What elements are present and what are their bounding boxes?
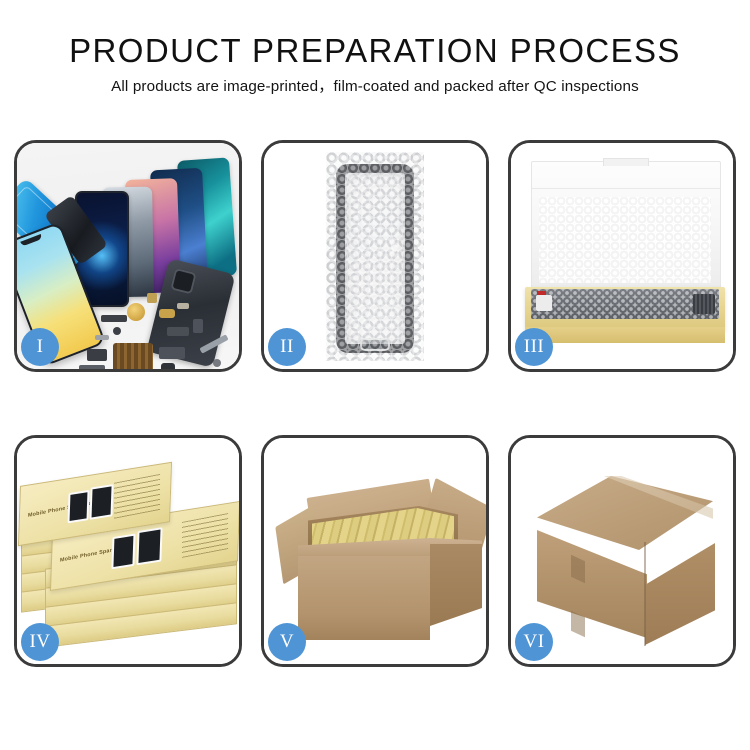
spare-part-icon	[79, 365, 105, 369]
spare-part-icon	[161, 363, 175, 369]
process-step-panel-2[interactable]: II	[261, 140, 489, 372]
spare-part-icon	[147, 293, 157, 303]
carton-top-face-icon	[537, 476, 713, 550]
process-step-panel-3[interactable]: III	[508, 140, 736, 372]
spare-part-icon	[159, 309, 175, 318]
product-preparation-process-page: PRODUCT PREPARATION PROCESS All products…	[0, 0, 750, 750]
foam-padding-icon	[539, 197, 711, 283]
page-subtitle: All products are image-printed，film-coat…	[0, 75, 750, 99]
phone-screen-outline-icon	[336, 164, 414, 353]
red-label-mark-icon	[537, 291, 546, 295]
spare-part-icon	[193, 319, 203, 333]
process-step-panel-1[interactable]: I	[14, 140, 242, 372]
packed-screen-icon	[531, 289, 719, 319]
step-badge-4: IV	[21, 623, 59, 661]
process-step-panel-5[interactable]: V	[261, 435, 489, 667]
spare-part-icon	[177, 303, 189, 309]
spare-part-icon	[127, 303, 145, 321]
carton-side-panel-icon	[430, 544, 482, 626]
box-spec-lines-icon	[114, 474, 160, 519]
page-title: PRODUCT PREPARATION PROCESS	[0, 30, 750, 72]
spare-part-icon	[87, 349, 107, 361]
step-badge-2: II	[268, 328, 306, 366]
spare-part-icon	[101, 315, 127, 322]
box-artwork-thumbnail-icon	[89, 484, 113, 520]
carton-right-face-icon	[645, 543, 715, 645]
spare-part-icon	[159, 347, 185, 359]
page-header: PRODUCT PREPARATION PROCESS All products…	[0, 30, 750, 99]
spare-part-icon	[113, 327, 121, 335]
process-step-grid: I II	[14, 140, 736, 700]
carton-corner-edge-icon	[644, 542, 646, 646]
box-artwork-thumbnail-icon	[136, 527, 162, 565]
spare-part-icon	[95, 335, 109, 340]
bubble-wrap-icon	[326, 152, 424, 361]
step-badge-5: V	[268, 623, 306, 661]
step-badge-6: VI	[515, 623, 553, 661]
spare-part-icon	[167, 327, 189, 336]
box-artwork-thumbnail-icon	[111, 534, 135, 570]
spare-part-icon	[213, 359, 221, 367]
kraft-box-front-icon	[525, 327, 725, 343]
step-badge-3: III	[515, 328, 553, 366]
box-spec-lines-icon	[182, 513, 228, 558]
process-step-panel-6[interactable]: VI	[508, 435, 736, 667]
box-artwork-thumbnail-icon	[67, 490, 89, 523]
process-step-panel-4[interactable]: Mobile Phone Spare Parts Mobile Phone Sp…	[14, 435, 242, 667]
spare-part-icon	[113, 343, 153, 369]
step-badge-1: I	[21, 328, 59, 366]
carton-front-panel-icon	[298, 556, 430, 640]
